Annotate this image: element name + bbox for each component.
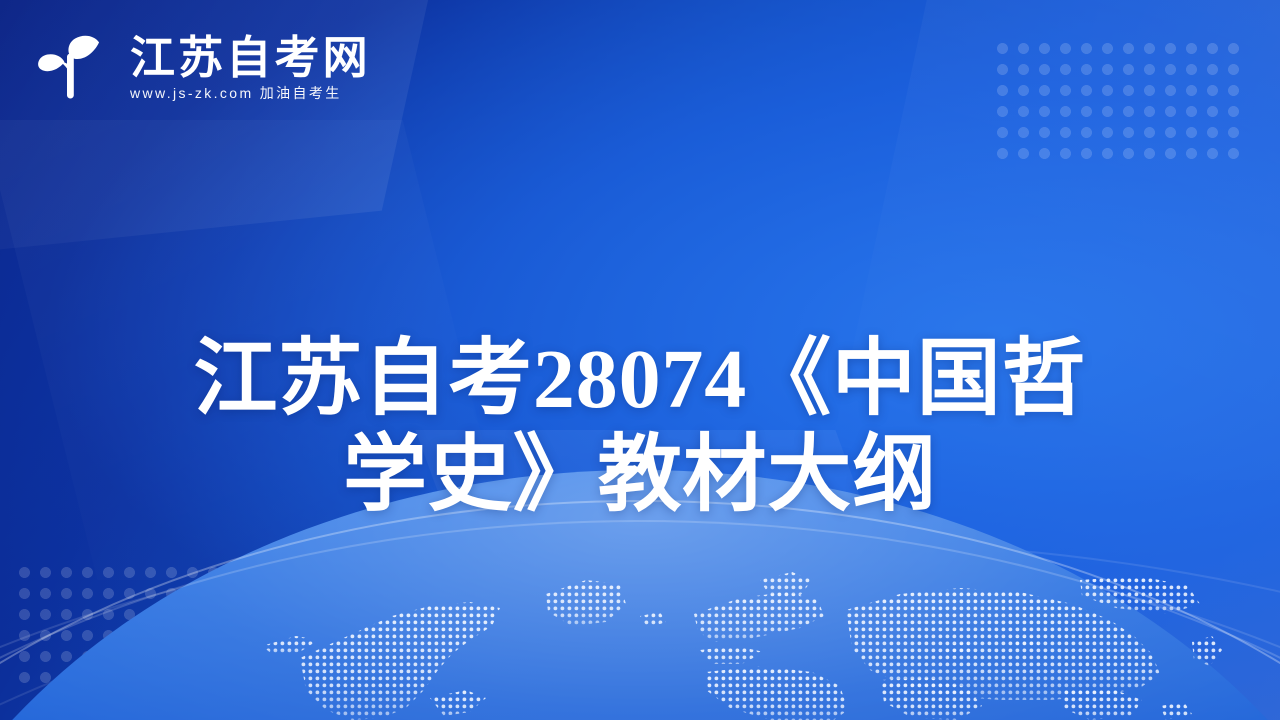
dot-grid-top-right-icon [992,38,1242,166]
globe-arc-2 [0,520,1280,720]
site-logo[interactable]: 江苏自考网 www.js-zk.com 加油自考生 [30,24,371,110]
banner-canvas: NEWS NEWS [0,0,1280,720]
sprout-icon [30,24,116,110]
page-title: 江苏自考28074《中国哲 学史》教材大纲 [170,332,1110,524]
logo-site-name: 江苏自考网 [130,35,371,80]
world-map-dots-icon [0,550,1280,720]
globe-arc-4 [0,540,1280,720]
logo-text-block: 江苏自考网 www.js-zk.com 加油自考生 [130,35,371,100]
globe-arc-3 [0,530,1280,720]
globe-arc-1 [0,500,1280,720]
dot-grid-bottom-left-icon [14,562,264,690]
logo-tagline: www.js-zk.com 加油自考生 [130,86,371,100]
